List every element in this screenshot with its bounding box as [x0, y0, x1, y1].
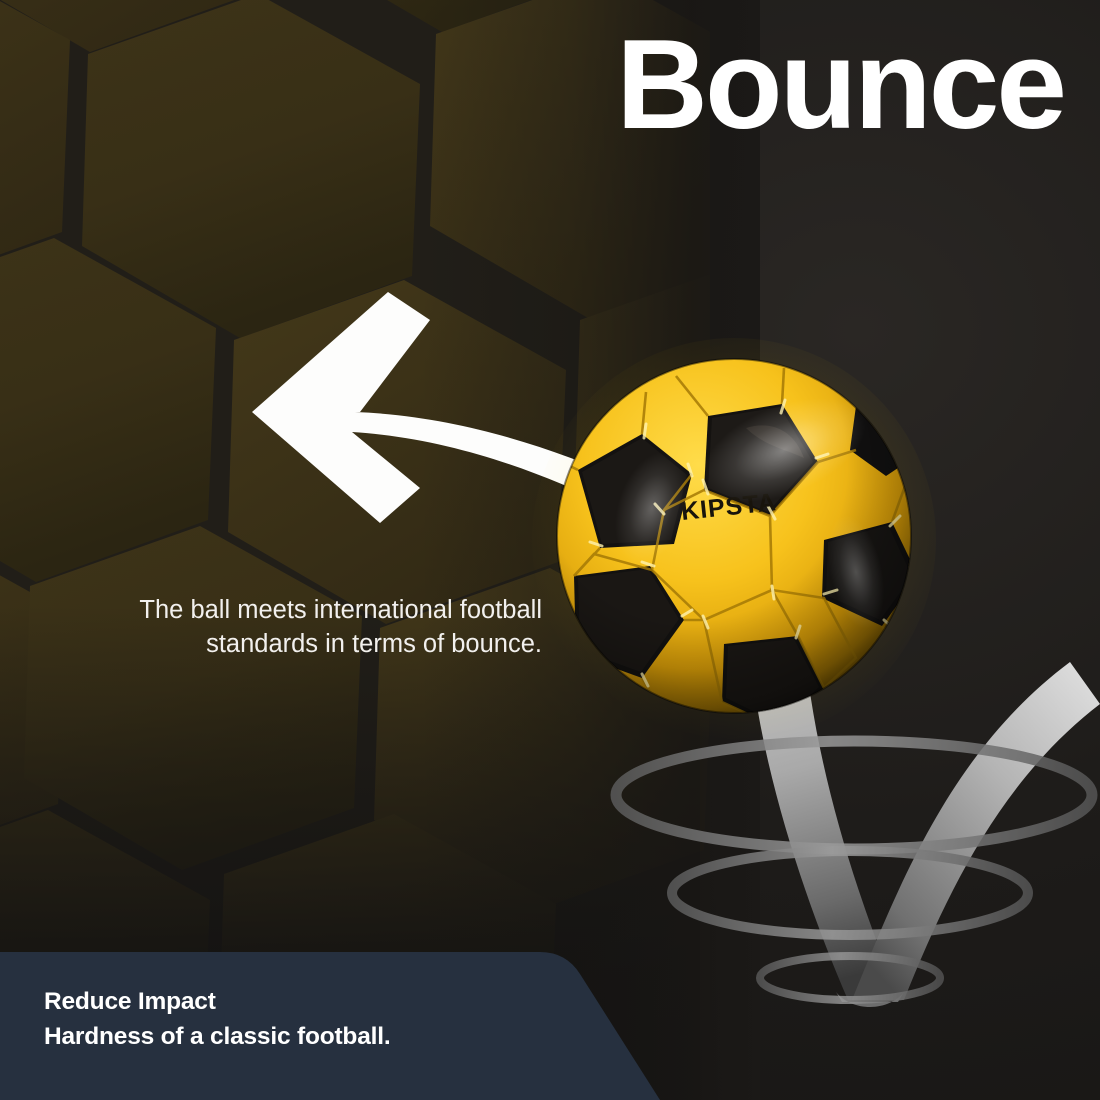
description-text: The ball meets international football st… — [22, 594, 542, 661]
banner-line-1: Reduce Impact — [44, 985, 390, 1020]
page-title: Bounce — [616, 18, 1064, 151]
football-ball: KIPSTA — [556, 358, 912, 714]
feature-card: KIPSTA Bounce The ball meets internation… — [0, 0, 1100, 1100]
banner-line-2: Hardness of a classic football. — [44, 1020, 390, 1055]
banner-text-block: Reduce Impact Hardness of a classic foot… — [44, 985, 390, 1055]
info-banner: Reduce Impact Hardness of a classic foot… — [0, 952, 680, 1100]
